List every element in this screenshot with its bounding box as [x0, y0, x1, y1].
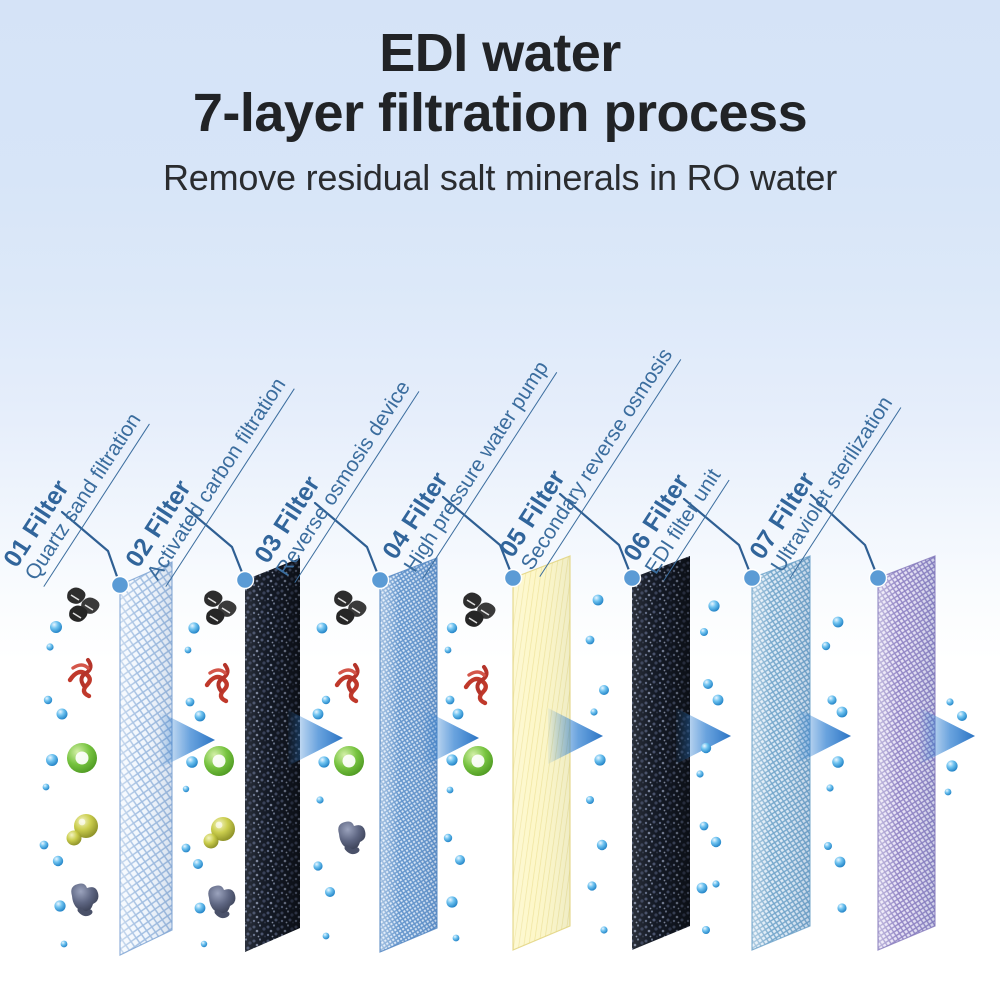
contaminant-group-zone-5 [586, 595, 609, 934]
page-subtitle: Remove residual salt minerals in RO wate… [0, 157, 1000, 199]
debris-cluster [463, 593, 495, 627]
algae-spheres [204, 817, 236, 849]
virus-ring [463, 746, 493, 776]
bacteria-strand [337, 665, 358, 701]
contaminant-group-zone-6 [696, 600, 723, 934]
contaminant-group-zone-8 [945, 698, 967, 795]
contaminant-group-zone-2 [182, 591, 237, 948]
contaminant-group-zone-3 [313, 591, 367, 940]
virus-ring [334, 746, 364, 776]
bacteria-strand [207, 665, 228, 701]
debris-cluster [204, 591, 236, 625]
contaminant-group-zone-7 [822, 617, 848, 913]
header: EDI water 7-layer filtration process Rem… [0, 0, 1000, 199]
bacteria-strand [466, 667, 487, 703]
heavy-metal-blob [338, 822, 365, 852]
contaminant-group-zone-1 [40, 588, 100, 948]
infographic-canvas: EDI water 7-layer filtration process Rem… [0, 0, 1000, 1000]
debris-cluster [334, 591, 366, 625]
heavy-metal-blob [208, 886, 235, 916]
bacteria-strand [70, 660, 91, 696]
virus-ring [67, 743, 97, 773]
virus-ring [204, 746, 234, 776]
debris-cluster [67, 588, 99, 622]
algae-spheres [67, 814, 99, 846]
page-title-line2: 7-layer filtration process [0, 85, 1000, 141]
contaminant-group-zone-4 [444, 593, 496, 942]
heavy-metal-blob [71, 884, 98, 914]
page-title-line1: EDI water [0, 26, 1000, 81]
